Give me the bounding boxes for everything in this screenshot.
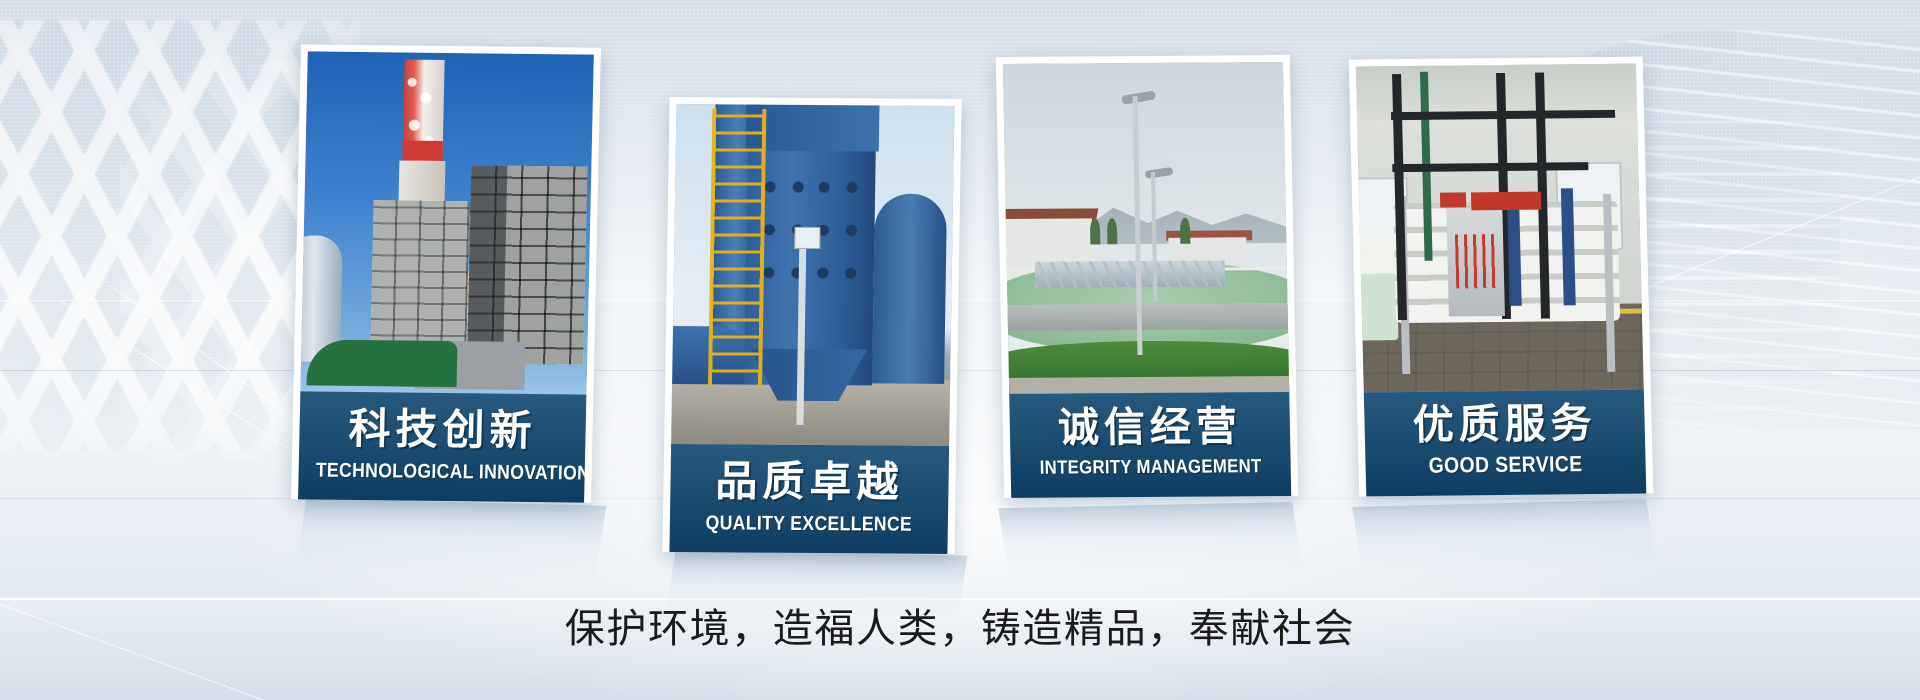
panel-title-cn: 品质卓越 bbox=[670, 460, 949, 504]
panel-title-cn: 诚信经营 bbox=[1009, 406, 1290, 449]
panel-title-cn: 科技创新 bbox=[299, 407, 586, 452]
panel-photo-wastewater-clarifier bbox=[1003, 62, 1289, 394]
panel-photo-dust-collector bbox=[671, 104, 954, 446]
panel-caption: 科技创新 TECHNOLOGICAL INNOVATION bbox=[298, 391, 586, 502]
panel-caption: 优质服务 GOOD SERVICE bbox=[1364, 389, 1647, 496]
feature-panel-good-service[interactable]: 优质服务 GOOD SERVICE bbox=[1349, 57, 1654, 497]
feature-panel-group: 科技创新 TECHNOLOGICAL INNOVATION 品质 bbox=[0, 0, 1920, 700]
panel-title-en: TECHNOLOGICAL INNOVATION bbox=[316, 461, 568, 484]
panel-title-en: INTEGRITY MANAGEMENT bbox=[1027, 457, 1274, 478]
feature-panel-integrity-management[interactable]: 诚信经营 INTEGRITY MANAGEMENT bbox=[996, 55, 1298, 498]
banner-tagline: 保护环境，造福人类，铸造精品，奉献社会 bbox=[0, 596, 1920, 654]
feature-panel-technological-innovation[interactable]: 科技创新 TECHNOLOGICAL INNOVATION bbox=[291, 44, 601, 502]
panel-title-en: GOOD SERVICE bbox=[1382, 453, 1629, 478]
feature-panel-quality-excellence[interactable]: 品质卓越 QUALITY EXCELLENCE bbox=[662, 97, 961, 554]
panel-title-cn: 优质服务 bbox=[1364, 402, 1645, 446]
panel-photo-reverse-osmosis-skid bbox=[1356, 64, 1644, 393]
banner-stage: 科技创新 TECHNOLOGICAL INNOVATION 品质 bbox=[0, 0, 1920, 700]
panel-caption: 品质卓越 QUALITY EXCELLENCE bbox=[669, 444, 949, 554]
panel-caption: 诚信经营 INTEGRITY MANAGEMENT bbox=[1009, 392, 1291, 498]
panel-title-en: QUALITY EXCELLENCE bbox=[686, 513, 931, 535]
panel-photo-desulfurization-plant bbox=[300, 51, 593, 394]
